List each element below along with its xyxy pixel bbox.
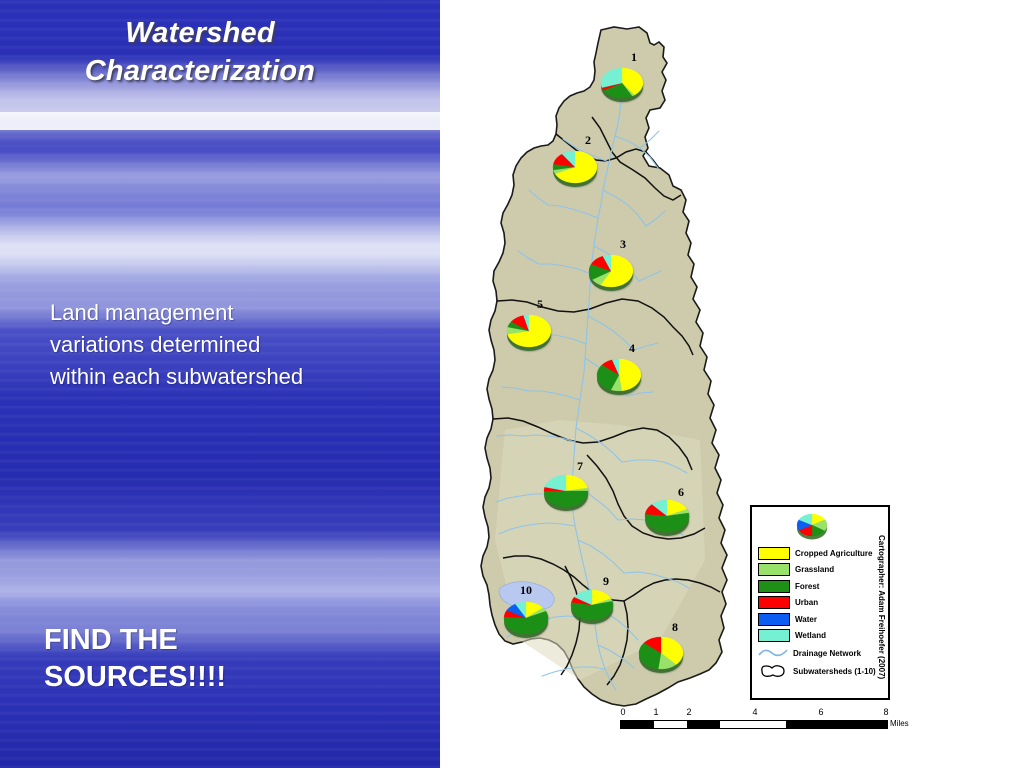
header-fade-overlay-secondary — [0, 112, 440, 152]
scalebar-tick-6: 6 — [818, 707, 823, 717]
map-scalebar: 0 1 2 4 6 8 Miles — [620, 707, 898, 733]
subwatershed-label-6: 6 — [678, 485, 684, 499]
legend-row-water: Water — [758, 611, 890, 628]
legend-swatch-forest — [758, 580, 790, 593]
scalebar-bar — [620, 720, 888, 729]
legend-label-drainage-network: Drainage Network — [793, 649, 861, 658]
page-title-line-2: Characterization — [0, 52, 400, 90]
map-canvas: 12345678910 — [440, 0, 1024, 768]
subwatershed-pie-8 — [639, 637, 683, 673]
watershed-map: 12345678910 N — [440, 0, 1024, 768]
legend-row-urban: Urban — [758, 595, 890, 612]
legend-label-grassland: Grassland — [795, 565, 834, 574]
subwatershed-outline-icon — [758, 664, 788, 678]
subwatershed-label-7: 7 — [577, 459, 583, 473]
subwatershed-label-2: 2 — [585, 133, 591, 147]
legend-swatch-wetland — [758, 629, 790, 642]
legend-swatch-urban — [758, 596, 790, 609]
legend-row-cropped-agriculture: Cropped Agriculture — [758, 545, 890, 562]
map-legend: Cropped Agriculture Grassland Forest Urb… — [750, 505, 890, 700]
legend-row-subwatersheds: Subwatersheds (1-10) — [758, 662, 890, 680]
legend-row-forest: Forest — [758, 578, 890, 595]
cartographer-credit: Cartographer: Adam Freihoefer (2007) — [877, 535, 886, 679]
legend-items-list: Cropped Agriculture Grassland Forest Urb… — [758, 545, 890, 680]
scalebar-tick-8: 8 — [883, 707, 888, 717]
scalebar-tick-4: 4 — [752, 707, 757, 717]
callout-text-block: FIND THE SOURCES!!!! — [44, 622, 424, 696]
page-title: Watershed Characterization — [0, 14, 400, 91]
subwatershed-pie-4 — [597, 359, 641, 395]
subwatershed-label-8: 8 — [672, 620, 678, 634]
drainage-line-icon — [758, 646, 788, 660]
presentation-slide: Watershed Characterization Land manageme… — [0, 0, 1024, 768]
body-text-line-2: variations determined — [50, 329, 420, 361]
subwatershed-pie-10 — [504, 602, 548, 638]
legend-label-wetland: Wetland — [795, 631, 826, 640]
scalebar-segment-white-2 — [720, 721, 786, 728]
subwatershed-pie-9 — [571, 590, 613, 624]
legend-row-grassland: Grassland — [758, 562, 890, 579]
legend-label-forest: Forest — [795, 582, 819, 591]
legend-swatch-water — [758, 613, 790, 626]
legend-label-water: Water — [795, 615, 817, 624]
subwatershed-label-9: 9 — [603, 574, 609, 588]
scalebar-tick-2: 2 — [686, 707, 691, 717]
subwatershed-pie-6 — [645, 500, 689, 536]
legend-label-urban: Urban — [795, 598, 818, 607]
callout-line-2: SOURCES!!!! — [44, 659, 424, 696]
page-title-line-1: Watershed — [125, 17, 275, 49]
body-text-block: Land management variations determined wi… — [50, 297, 420, 393]
legend-label-cropped-agriculture: Cropped Agriculture — [795, 549, 872, 558]
legend-row-drainage-network: Drainage Network — [758, 644, 890, 662]
scalebar-tick-1: 1 — [653, 707, 658, 717]
subwatershed-label-10: 10 — [520, 583, 532, 597]
subwatershed-pie-3 — [589, 255, 633, 291]
legend-row-wetland: Wetland — [758, 628, 890, 645]
subwatershed-label-4: 4 — [629, 341, 635, 355]
subwatershed-pie-5 — [507, 315, 551, 351]
legend-swatch-cropped-agriculture — [758, 547, 790, 560]
scalebar-tick-0: 0 — [620, 707, 625, 717]
subwatershed-label-3: 3 — [620, 237, 626, 251]
subwatershed-label-1: 1 — [631, 50, 637, 64]
subwatershed-pie-7 — [544, 475, 588, 511]
legend-swatch-grassland — [758, 563, 790, 576]
subwatershed-pie-1 — [601, 68, 643, 102]
body-text-line-1: Land management — [50, 297, 420, 329]
callout-line-1: FIND THE — [44, 622, 424, 659]
subwatershed-pie-2 — [553, 151, 597, 187]
legend-sample-pie-icon — [790, 510, 834, 544]
scalebar-unit-label: Miles — [890, 719, 909, 728]
scalebar-segment-white-1 — [654, 721, 687, 728]
body-text-line-3: within each subwatershed — [50, 361, 420, 393]
subwatershed-label-5: 5 — [537, 297, 543, 311]
legend-label-subwatersheds: Subwatersheds (1-10) — [793, 667, 876, 676]
